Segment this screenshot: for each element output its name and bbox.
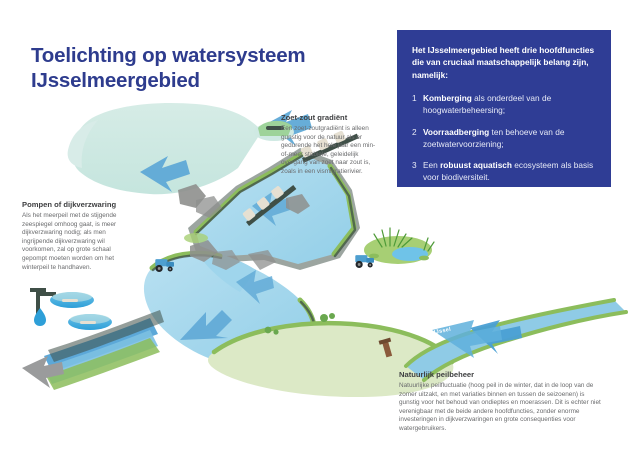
- ijssel-river: [406, 300, 626, 380]
- list-number: 1: [412, 92, 423, 104]
- key-function-item-3: 3 Een robuust aquatisch ecosysteem als b…: [412, 159, 596, 183]
- key-functions-list: 1 Komberging als onderdeel van de hoogwa…: [412, 92, 596, 183]
- list-pre: Een: [423, 160, 440, 170]
- annotation-zoet-zout-gradient: Zoet-zout gradiënt Een zoet-zoutgradiënt…: [281, 113, 378, 177]
- key-function-item-2: 2 Voorraadberging ten behoeve van de zoe…: [412, 126, 596, 150]
- infographic-page: IJssel Toelichting op watersysteem IJsse…: [0, 0, 640, 452]
- key-function-item-1: 1 Komberging als onderdeel van de hoogwa…: [412, 92, 596, 116]
- annotation-heading: Natuurlijk peilbeheer: [399, 370, 605, 380]
- list-number: 3: [412, 159, 423, 171]
- list-text: Voorraadberging ten behoeve van de zoetw…: [423, 126, 596, 150]
- annotation-body: Een zoet-zoutgradiënt is alleen gunstig …: [281, 125, 378, 177]
- annotation-heading: Pompen of dijkverzwaring: [22, 200, 126, 210]
- reed-patch-upper: [184, 233, 208, 243]
- page-title-line-1: Toelichting op watersysteem: [31, 43, 376, 68]
- list-number: 2: [412, 126, 423, 138]
- water-ponds: [50, 292, 112, 330]
- faucet-icon: [30, 288, 56, 326]
- marsh-island: [364, 228, 434, 264]
- key-functions-panel: Het IJsselmeergebied heeft drie hoofdfun…: [397, 30, 611, 187]
- annotation-pompen-of-dijkverzwaring: Pompen of dijkverzwaring Als het meerpei…: [22, 200, 126, 272]
- annotation-heading: Zoet-zout gradiënt: [281, 113, 378, 123]
- list-text: Een robuust aquatisch ecosysteem als bas…: [423, 159, 596, 183]
- list-term: Komberging: [423, 93, 472, 103]
- annotation-body: Natuurlijke peilfluctuatie (hoog peil in…: [399, 382, 605, 434]
- key-functions-intro: Het IJsselmeergebied heeft drie hoofdfun…: [412, 44, 596, 81]
- annotation-body: Als het meerpeil met de stijgende zeespi…: [22, 212, 126, 272]
- page-title-line-2: IJsselmeergebied: [31, 68, 376, 93]
- annotation-natuurlijk-peilbeheer: Natuurlijk peilbeheer Natuurlijke peilfl…: [399, 370, 605, 434]
- list-text: Komberging als onderdeel van de hoogwate…: [423, 92, 596, 116]
- list-term: robuust aquatisch: [440, 160, 512, 170]
- list-term: Voorraadberging: [423, 127, 489, 137]
- page-title: Toelichting op watersysteem IJsselmeerge…: [31, 43, 376, 93]
